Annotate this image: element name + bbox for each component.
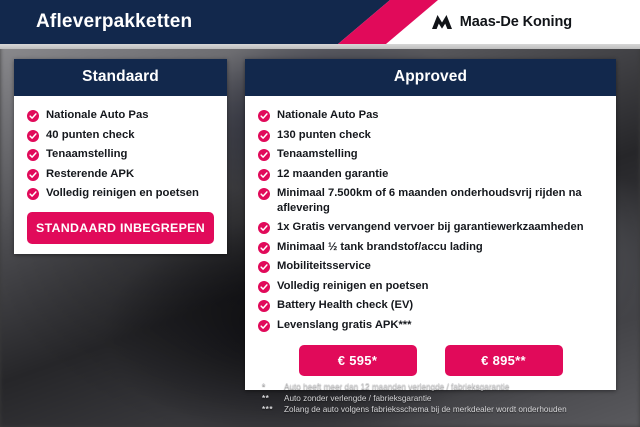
list-item: 12 maanden garantie	[258, 167, 603, 182]
card-body-approved: Nationale Auto Pas 130 punten check Tena…	[245, 96, 616, 390]
check-circle-icon	[258, 222, 270, 234]
check-circle-icon	[258, 242, 270, 254]
feature-label: Mobiliteitsservice	[277, 259, 371, 274]
list-item: 1x Gratis vervangend vervoer bij garanti…	[258, 220, 603, 235]
card-body-standaard: Nationale Auto Pas 40 punten check Tenaa…	[14, 96, 227, 254]
feature-label: Nationale Auto Pas	[277, 108, 379, 123]
feature-label: Nationale Auto Pas	[46, 108, 149, 123]
page-title: Afleverpakketten	[36, 0, 192, 44]
brand-logo: Maas-De Koning	[431, 0, 572, 44]
maas-de-koning-logo-icon	[431, 14, 453, 30]
slide-canvas: Afleverpakketten Maas-De Koning Standaar…	[0, 0, 640, 427]
list-item: Levenslang gratis APK***	[258, 318, 603, 333]
feature-label: Volledig reinigen en poetsen	[277, 279, 428, 294]
check-circle-icon	[258, 300, 270, 312]
feature-label: Tenaamstelling	[277, 147, 358, 162]
standaard-inbegrepen-button[interactable]: STANDAARD INBEGREPEN	[27, 212, 214, 244]
check-circle-icon	[27, 149, 39, 161]
price-button-595[interactable]: € 595*	[299, 345, 417, 376]
list-item: Resterende APK	[27, 167, 214, 182]
list-item: Mobiliteitsservice	[258, 259, 603, 274]
footnote-3: *** Zolang de auto volgens fabrieksschem…	[262, 404, 632, 416]
feature-label: Battery Health check (EV)	[277, 298, 413, 313]
header-underline	[0, 44, 640, 49]
check-circle-icon	[258, 261, 270, 273]
list-item: Minimaal 7.500km of 6 maanden onderhouds…	[258, 186, 603, 215]
list-item: Nationale Auto Pas	[258, 108, 603, 123]
feature-list-standaard: Nationale Auto Pas 40 punten check Tenaa…	[27, 108, 214, 201]
list-item: Volledig reinigen en poetsen	[27, 186, 214, 201]
list-item: Minimaal ½ tank brandstof/accu lading	[258, 240, 603, 255]
feature-label: Tenaamstelling	[46, 147, 127, 162]
price-button-row: € 595* € 895**	[258, 345, 603, 376]
check-circle-icon	[258, 149, 270, 161]
check-circle-icon	[258, 110, 270, 122]
feature-list-approved: Nationale Auto Pas 130 punten check Tena…	[258, 108, 603, 332]
list-item: Battery Health check (EV)	[258, 298, 603, 313]
card-title-standaard: Standaard	[14, 59, 227, 96]
list-item: 130 punten check	[258, 128, 603, 143]
feature-label: Minimaal ½ tank brandstof/accu lading	[277, 240, 483, 255]
footnotes: * Auto heeft meer dan 12 maanden verleng…	[262, 381, 632, 416]
brand-name: Maas-De Koning	[460, 14, 572, 30]
check-circle-icon	[258, 130, 270, 142]
list-item: Nationale Auto Pas	[27, 108, 214, 123]
feature-label: Resterende APK	[46, 167, 134, 182]
package-card-standaard: Standaard Nationale Auto Pas 40 punten c…	[14, 59, 227, 254]
package-card-approved: Approved Nationale Auto Pas 130 punten c…	[245, 59, 616, 390]
list-item: Tenaamstelling	[27, 147, 214, 162]
check-circle-icon	[27, 169, 39, 181]
feature-label: Minimaal 7.500km of 6 maanden onderhouds…	[277, 186, 603, 215]
check-circle-icon	[258, 281, 270, 293]
card-title-approved: Approved	[245, 59, 616, 96]
footnote-marker: *	[262, 381, 284, 393]
header-bar: Afleverpakketten Maas-De Koning	[0, 0, 640, 44]
check-circle-icon	[27, 188, 39, 200]
check-circle-icon	[258, 188, 270, 200]
footnote-2: ** Auto zonder verlengde / fabrieksgaran…	[262, 393, 632, 405]
list-item: Tenaamstelling	[258, 147, 603, 162]
feature-label: Levenslang gratis APK***	[277, 318, 412, 333]
feature-label: 1x Gratis vervangend vervoer bij garanti…	[277, 220, 584, 235]
footnote-marker: ***	[262, 404, 284, 416]
check-circle-icon	[258, 320, 270, 332]
price-button-895[interactable]: € 895**	[445, 345, 563, 376]
footnote-marker: **	[262, 393, 284, 405]
list-item: Volledig reinigen en poetsen	[258, 279, 603, 294]
feature-label: 130 punten check	[277, 128, 371, 143]
check-circle-icon	[258, 169, 270, 181]
feature-label: 12 maanden garantie	[277, 167, 388, 182]
footnote-text: Auto heeft meer dan 12 maanden verlengde…	[284, 381, 632, 393]
feature-label: 40 punten check	[46, 128, 135, 143]
list-item: 40 punten check	[27, 128, 214, 143]
footnote-text: Auto zonder verlengde / fabrieksgarantie	[284, 393, 632, 405]
feature-label: Volledig reinigen en poetsen	[46, 186, 199, 201]
check-circle-icon	[27, 110, 39, 122]
footnote-1: * Auto heeft meer dan 12 maanden verleng…	[262, 381, 632, 393]
check-circle-icon	[27, 130, 39, 142]
footnote-text: Zolang de auto volgens fabrieksschema bi…	[284, 404, 632, 416]
